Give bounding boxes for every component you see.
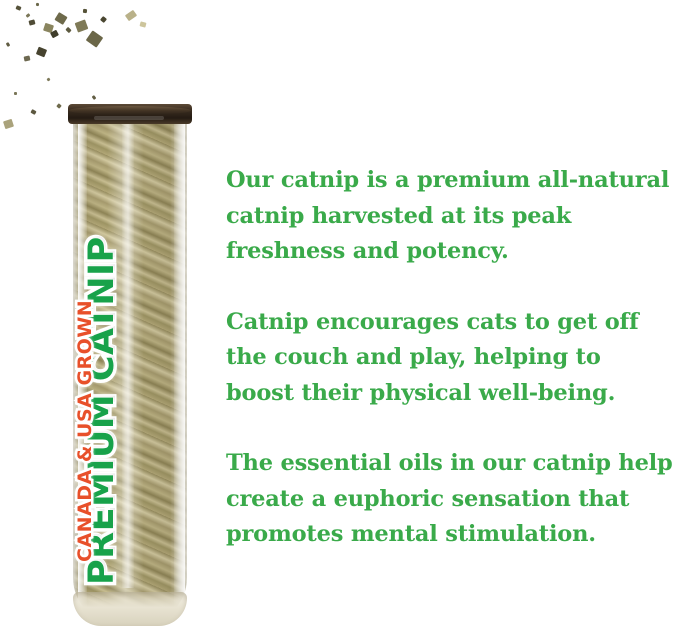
catnip-flake	[139, 21, 146, 27]
catnip-flake	[54, 12, 67, 25]
catnip-flake	[65, 27, 71, 33]
catnip-flake	[50, 30, 59, 39]
tube-highlight-right	[174, 118, 185, 616]
catnip-flake	[46, 77, 50, 81]
tube-rounded-base	[73, 592, 187, 626]
tube-cap	[68, 104, 192, 124]
copy-paragraph-3: The essential oils in our catnip help cr…	[226, 446, 676, 553]
catnip-flake	[3, 119, 14, 129]
catnip-flake	[14, 92, 17, 95]
catnip-flake	[15, 5, 21, 11]
catnip-flake	[6, 42, 11, 47]
copy-paragraph-2: Catnip encourages cats to get off the co…	[226, 305, 676, 412]
catnip-flake	[28, 19, 35, 25]
copy-paragraph-1: Our catnip is a premium all-natural catn…	[226, 163, 676, 270]
catnip-flake	[43, 23, 54, 33]
catnip-flake	[75, 19, 89, 32]
tube-highlight-center	[122, 118, 134, 588]
marketing-copy: Our catnip is a premium all-natural catn…	[226, 163, 676, 553]
catnip-flake	[125, 10, 137, 21]
catnip-flake	[24, 55, 31, 61]
catnip-flake	[86, 30, 104, 47]
tube-cap-rim	[69, 106, 191, 115]
catnip-flake	[100, 16, 107, 23]
catnip-flake	[36, 47, 47, 58]
catnip-flake	[26, 13, 31, 18]
tube-cap-highlight	[94, 116, 164, 120]
catnip-flake	[56, 103, 62, 109]
catnip-flake	[30, 109, 36, 115]
catnip-flake	[83, 9, 87, 13]
catnip-flake	[36, 3, 39, 6]
label-origin-claim: CANADA & USA GROWN	[74, 300, 96, 562]
